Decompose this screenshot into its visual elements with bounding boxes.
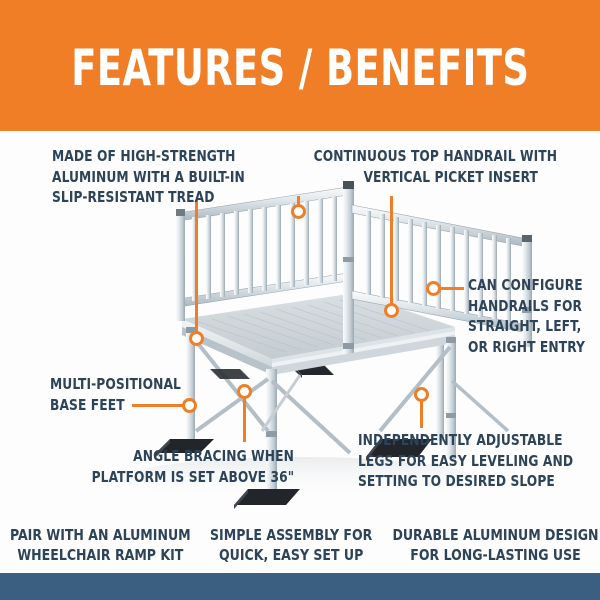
marker-handrail-right [384,303,399,318]
leader-line-bracing [243,396,246,442]
footer-line: DURABLE ALUMINUM DESIGN [392,525,598,545]
footer-line: WHEELCHAIR RAMP KIT [10,545,191,565]
marker-handrail-left [291,204,306,219]
base-foot-back-right [210,369,250,379]
marker-basefeet [182,398,197,413]
callout-line: LEGS FOR EASY LEVELING AND [358,451,573,472]
footer-line: QUICK, EASY SET UP [210,545,372,565]
leader-line-configure [440,287,464,290]
footer-item-simple-assembly: SIMPLE ASSEMBLY FOR QUICK, EASY SET UP [201,521,381,566]
callout-line: VERTICAL PICKET INSERT [314,167,538,188]
callout-multi-positional-base-feet: MULTI-POSITIONAL BASE FEET [50,374,181,415]
callout-line: BASE FEET [50,395,181,416]
leader-line-legs [420,400,423,428]
marker-legs [414,387,429,402]
footer-benefits-row: PAIR WITH AN ALUMINUM WHEELCHAIR RAMP KI… [0,521,600,573]
callout-angle-bracing: ANGLE BRACING WHEN PLATFORM IS SET ABOVE… [92,446,294,487]
callout-line: SLIP-RESISTANT TREAD [52,187,245,208]
footer-item-durable-aluminum: DURABLE ALUMINUM DESIGN FOR LONG-LASTING… [381,521,600,566]
marker-bracing [237,384,252,399]
callout-can-configure-handrails: CAN CONFIGURE HANDRAILS FOR STRAIGHT, LE… [468,275,585,357]
callout-line: PLATFORM IS SET ABOVE 36" [92,467,294,488]
footer-item-pair-with-ramp-kit: PAIR WITH AN ALUMINUM WHEELCHAIR RAMP KI… [0,521,201,566]
callout-line: INDEPENDENTLY ADJUSTABLE [358,430,573,451]
marker-tread [189,331,204,346]
callout-continuous-top-handrail: CONTINUOUS TOP HANDRAIL WITH VERTICAL PI… [314,146,538,187]
infographic-page: FEATURES / BENEFITS [0,0,600,600]
leader-line-handrail-2 [390,196,393,308]
callout-made-of-high-strength-aluminum: MADE OF HIGH-STRENGTH ALUMINUM WITH A BU… [52,146,245,208]
callout-line: ANGLE BRACING WHEN [92,446,294,467]
leg-back-right [436,336,444,441]
callout-line: MULTI-POSITIONAL [50,374,181,395]
callout-line: STRAIGHT, LEFT, [468,316,585,337]
bottom-accent-bar [0,573,600,600]
callout-line: HANDRAILS FOR [468,296,585,317]
footer-line: PAIR WITH AN ALUMINUM [10,525,191,545]
footer-line: SIMPLE ASSEMBLY FOR [210,525,372,545]
marker-configure [426,281,441,296]
leader-line-tread [195,200,198,338]
header-band: FEATURES / BENEFITS [0,0,600,131]
page-title: FEATURES / BENEFITS [71,43,529,93]
callout-independently-adjustable-legs: INDEPENDENTLY ADJUSTABLE LEGS FOR EASY L… [358,430,573,492]
callout-line: MADE OF HIGH-STRENGTH [52,146,245,167]
callout-line: OR RIGHT ENTRY [468,337,585,358]
callout-line: CAN CONFIGURE [468,275,585,296]
footer-line: FOR LONG-LASTING USE [392,545,598,565]
callout-line: CONTINUOUS TOP HANDRAIL WITH [314,146,538,167]
callout-line: SETTING TO DESIRED SLOPE [358,471,573,492]
callout-line: ALUMINUM WITH A BUILT-IN [52,167,245,188]
